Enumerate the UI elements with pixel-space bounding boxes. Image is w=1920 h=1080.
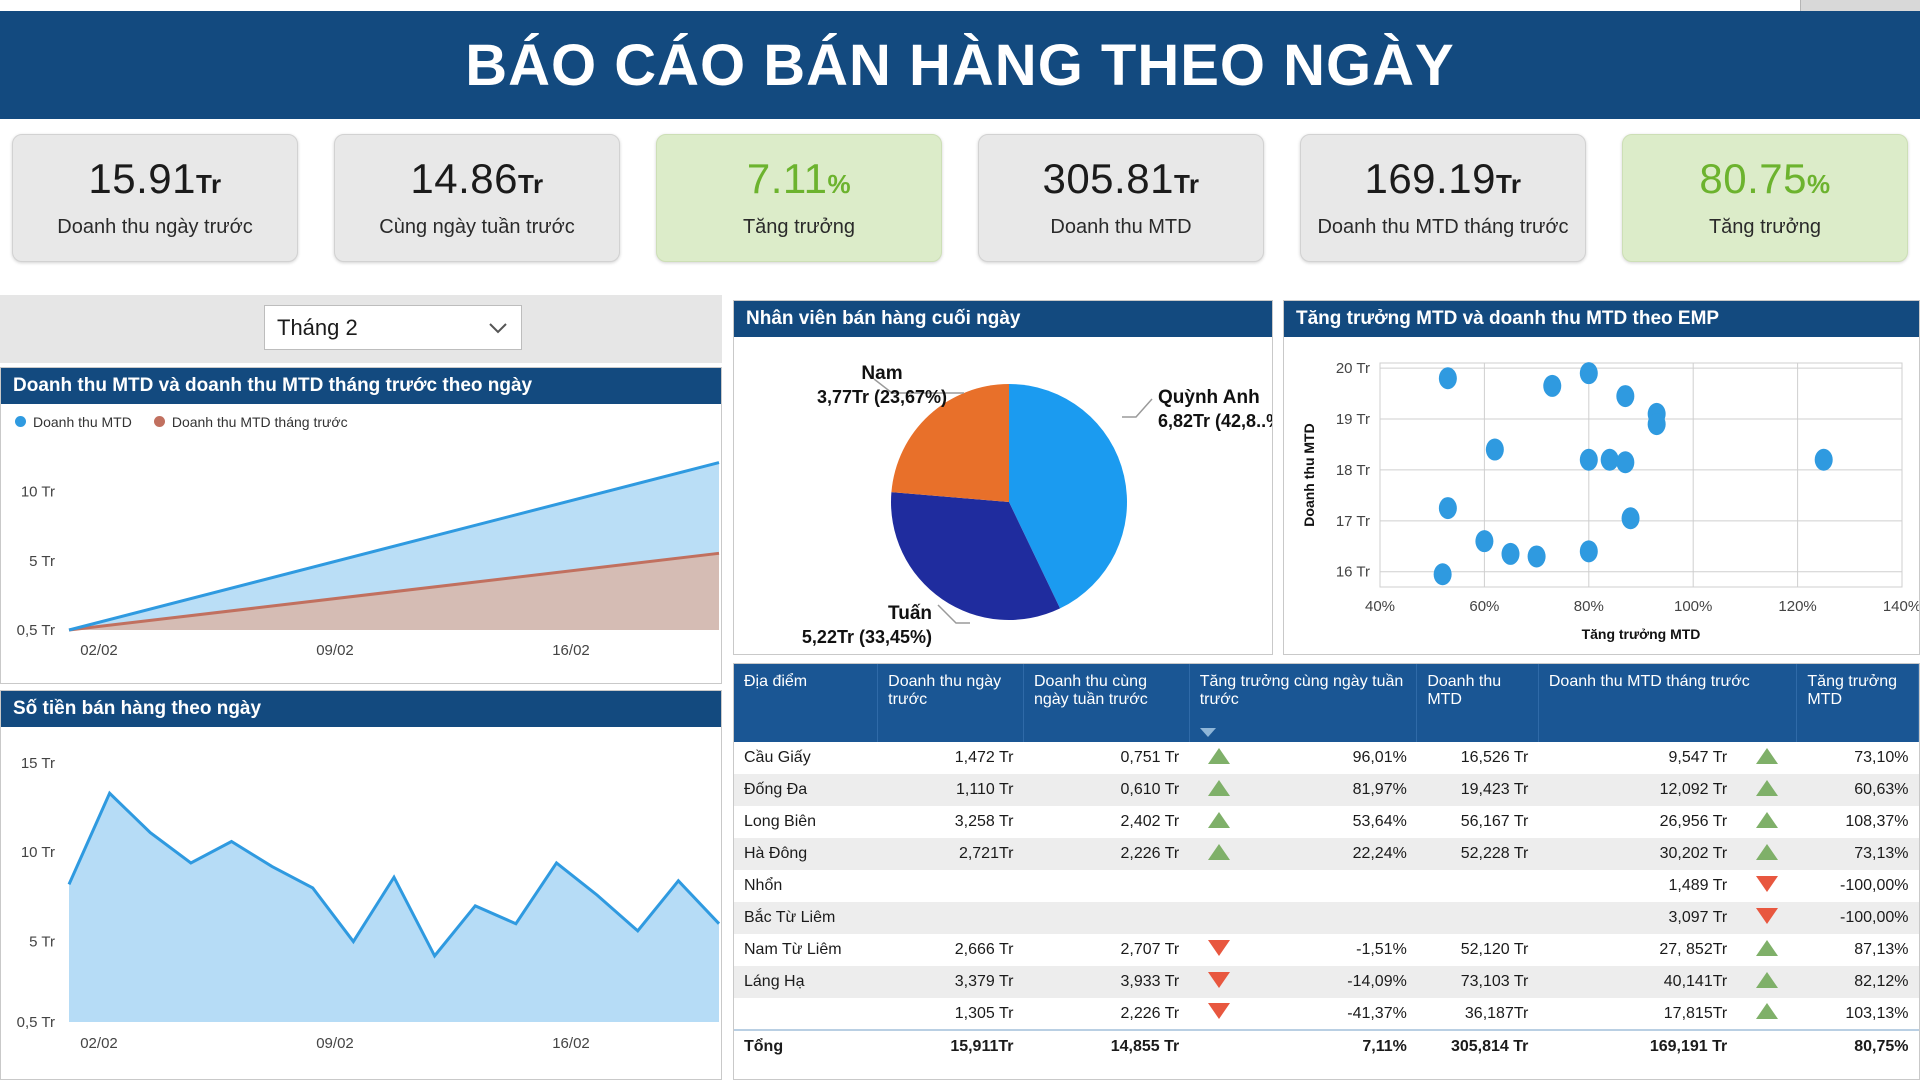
scatter-point[interactable]	[1616, 385, 1634, 407]
table-col-header[interactable]: Địa điểm	[734, 664, 878, 742]
chevron-down-icon[interactable]	[487, 315, 509, 341]
page-title: BÁO CÁO BÁN HÀNG THEO NGÀY	[465, 32, 1454, 99]
trend-up-icon	[1737, 774, 1797, 806]
kpi-label: Tăng trưởng	[743, 216, 855, 239]
kpi-card-2[interactable]: 14.86TrCùng ngày tuần trước	[334, 134, 620, 262]
scatter-point[interactable]	[1622, 507, 1640, 529]
table-cell-growth_mtd: 103,13%	[1797, 998, 1919, 1030]
svg-text:15 Tr: 15 Tr	[21, 755, 55, 772]
table-cell-rev_mtd: 73,103 Tr	[1417, 966, 1539, 998]
svg-text:19 Tr: 19 Tr	[1336, 411, 1370, 428]
kpi-value: 15.91Tr	[88, 158, 221, 200]
table-cell-growth_mtd: 73,13%	[1797, 838, 1919, 870]
svg-text:Tăng trưởng MTD: Tăng trưởng MTD	[1582, 626, 1701, 642]
table-cell-growth_wk	[1249, 902, 1417, 934]
daily-chart-plot[interactable]: 0,5 Tr5 Tr10 Tr15 Tr02/0209/0216/02	[1, 727, 721, 1079]
daily-chart-title: Số tiền bán hàng theo ngày	[1, 691, 721, 727]
salesperson-pie-panel[interactable]: Nhân viên bán hàng cuối ngày Quỳnh Anh6,…	[733, 300, 1273, 655]
kpi-card-1[interactable]: 15.91TrDoanh thu ngày trước	[12, 134, 298, 262]
table-cell-growth_wk: -41,37%	[1249, 998, 1417, 1030]
mtd-chart-plot[interactable]: 0,5 Tr5 Tr10 Tr02/0209/0216/02	[1, 430, 721, 675]
table-cell-rev_mtd: 19,423 Tr	[1417, 774, 1539, 806]
scatter-point[interactable]	[1439, 497, 1457, 519]
total-cell-rev_prev_day: 15,911Tr	[878, 1030, 1024, 1062]
table-header-row: Địa điểmDoanh thu ngày trướcDoanh thu cù…	[734, 664, 1919, 742]
svg-text:140%: 140%	[1883, 598, 1919, 615]
table-cell-loc: Long Biên	[734, 806, 878, 838]
dashboard-page: BÁO CÁO BÁN HÀNG THEO NGÀY 15.91TrDoanh …	[0, 0, 1920, 1080]
trend-down-icon	[1189, 934, 1249, 966]
total-cell-growth_wk: 7,11%	[1249, 1030, 1417, 1062]
table-cell-loc: Đống Đa	[734, 774, 878, 806]
pie-chart-plot[interactable]: Quỳnh Anh6,82Tr (42,8..%)Tuấn5,22Tr (33,…	[734, 337, 1272, 655]
trend-icon-empty	[1189, 902, 1249, 934]
table-row[interactable]: Hà Đông2,721Tr2,226 Tr22,24%52,228 Tr30,…	[734, 838, 1919, 870]
table-cell-growth_wk: 53,64%	[1249, 806, 1417, 838]
trend-up-icon	[1737, 966, 1797, 998]
scatter-point[interactable]	[1439, 367, 1457, 389]
table-cell-growth_mtd: 108,37%	[1797, 806, 1919, 838]
trend-down-icon	[1737, 902, 1797, 934]
table-cell-rev_prev_day: 3,258 Tr	[878, 806, 1024, 838]
table-cell-rev_mtd	[1417, 902, 1539, 934]
scatter-point[interactable]	[1580, 540, 1598, 562]
svg-text:16 Tr: 16 Tr	[1336, 564, 1370, 581]
table-cell-growth_mtd: -100,00%	[1797, 902, 1919, 934]
trend-down-icon	[1189, 966, 1249, 998]
svg-text:10 Tr: 10 Tr	[21, 483, 55, 500]
sort-descending-icon[interactable]	[1200, 728, 1216, 737]
svg-text:Nam: Nam	[861, 363, 902, 384]
table-cell-growth_wk: 81,97%	[1249, 774, 1417, 806]
legend-swatch-blue	[15, 416, 26, 427]
mtd-chart-title: Doanh thu MTD và doanh thu MTD tháng trư…	[1, 368, 721, 404]
table-total-row: Tổng15,911Tr14,855 Tr7,11%305,814 Tr169,…	[734, 1030, 1919, 1062]
table-cell-rev_prev_day: 2,666 Tr	[878, 934, 1024, 966]
table-cell-rev_prev_day: 1,472 Tr	[878, 742, 1024, 774]
svg-text:Quỳnh Anh: Quỳnh Anh	[1158, 387, 1260, 408]
kpi-label: Doanh thu ngày trước	[57, 216, 253, 239]
table-cell-rev_mtd_prev: 3,097 Tr	[1538, 902, 1737, 934]
report-title-bar: BÁO CÁO BÁN HÀNG THEO NGÀY	[0, 11, 1920, 119]
svg-text:09/02: 09/02	[316, 1035, 354, 1052]
total-cell-rev_mtd_prev: 169,191 Tr	[1538, 1030, 1737, 1062]
kpi-label: Cùng ngày tuần trước	[379, 216, 575, 239]
scatter-point[interactable]	[1580, 362, 1598, 384]
trend-up-icon	[1189, 806, 1249, 838]
svg-text:80%: 80%	[1574, 598, 1604, 615]
table-cell-loc: Nam Từ Liêm	[734, 934, 878, 966]
table-col-header[interactable]: Doanh thu cùng ngày tuần trước	[1023, 664, 1189, 742]
kpi-value: 169.19Tr	[1364, 158, 1521, 200]
kpi-card-3[interactable]: 7.11%Tăng trưởng	[656, 134, 942, 262]
mtd-revenue-chart-panel[interactable]: Doanh thu MTD và doanh thu MTD tháng trư…	[0, 367, 722, 684]
table-cell-rev_mtd_prev: 1,489 Tr	[1538, 870, 1737, 902]
trend-up-icon	[1737, 806, 1797, 838]
kpi-value: 305.81Tr	[1042, 158, 1199, 200]
table-cell-growth_wk: -1,51%	[1249, 934, 1417, 966]
svg-text:5 Tr: 5 Tr	[29, 553, 55, 570]
table-cell-loc: Cầu Giấy	[734, 742, 878, 774]
scatter-point[interactable]	[1486, 438, 1504, 460]
mtd-chart-legend: Doanh thu MTD Doanh thu MTD tháng trước	[1, 404, 721, 430]
scatter-point[interactable]	[1475, 530, 1493, 552]
table-cell-rev_same_day_lw: 2,226 Tr	[1023, 998, 1189, 1030]
table-cell-rev_same_day_lw: 2,402 Tr	[1023, 806, 1189, 838]
location-metrics-table[interactable]: Địa điểmDoanh thu ngày trướcDoanh thu cù…	[734, 664, 1919, 1062]
scatter-chart-title: Tăng trưởng MTD và doanh thu MTD theo EM…	[1284, 301, 1919, 337]
table-cell-growth_mtd: 82,12%	[1797, 966, 1919, 998]
pie-chart-title: Nhân viên bán hàng cuối ngày	[734, 301, 1272, 337]
kpi-label: Doanh thu MTD	[1050, 216, 1191, 239]
kpi-card-6[interactable]: 80.75%Tăng trưởng	[1622, 134, 1908, 262]
kpi-card-4[interactable]: 305.81TrDoanh thu MTD	[978, 134, 1264, 262]
kpi-value: 7.11%	[747, 158, 851, 200]
trend-down-icon	[1737, 870, 1797, 902]
total-cell-rev_same_day_lw: 14,855 Tr	[1023, 1030, 1189, 1062]
table-cell-rev_same_day_lw: 3,933 Tr	[1023, 966, 1189, 998]
svg-text:Doanh thu MTD: Doanh thu MTD	[1301, 423, 1317, 526]
table-cell-loc: Bắc Từ Liêm	[734, 902, 878, 934]
table-col-header[interactable]: Doanh thu MTD tháng trước	[1538, 664, 1797, 742]
table-cell-rev_prev_day: 1,110 Tr	[878, 774, 1024, 806]
table-cell-rev_prev_day: 3,379 Tr	[878, 966, 1024, 998]
trend-up-icon	[1737, 742, 1797, 774]
svg-text:Tuấn: Tuấn	[888, 603, 932, 624]
location-metrics-table-panel[interactable]: Địa điểmDoanh thu ngày trướcDoanh thu cù…	[733, 663, 1920, 1080]
trend-up-icon	[1737, 998, 1797, 1030]
svg-text:18 Tr: 18 Tr	[1336, 462, 1370, 479]
svg-text:20 Tr: 20 Tr	[1336, 360, 1370, 377]
total-cell-blank	[1189, 1030, 1249, 1062]
svg-text:16/02: 16/02	[552, 642, 590, 659]
table-cell-rev_same_day_lw	[1023, 902, 1189, 934]
trend-up-icon	[1189, 838, 1249, 870]
scatter-point[interactable]	[1580, 449, 1598, 471]
table-cell-rev_same_day_lw: 0,610 Tr	[1023, 774, 1189, 806]
table-cell-loc: Láng Hạ	[734, 966, 878, 998]
kpi-value: 80.75%	[1699, 158, 1830, 200]
table-cell-loc: Nhổn	[734, 870, 878, 902]
table-cell-rev_mtd_prev: 26,956 Tr	[1538, 806, 1737, 838]
scatter-point[interactable]	[1528, 545, 1546, 567]
table-cell-growth_wk: 22,24%	[1249, 838, 1417, 870]
growth-scatter-panel[interactable]: Tăng trưởng MTD và doanh thu MTD theo EM…	[1283, 300, 1920, 655]
svg-text:3,77Tr (23,67%): 3,77Tr (23,67%)	[817, 387, 947, 407]
table-cell-rev_prev_day: 1,305 Tr	[878, 998, 1024, 1030]
svg-text:0,5 Tr: 0,5 Tr	[17, 1014, 55, 1031]
table-col-header[interactable]: Tăng trưởng MTD	[1797, 664, 1919, 742]
table-row[interactable]: Nam Từ Liêm2,666 Tr2,707 Tr-1,51%52,120 …	[734, 934, 1919, 966]
month-slicer-value: Tháng 2	[277, 315, 358, 341]
legend-label-mtd: Doanh thu MTD	[33, 414, 132, 430]
svg-text:6,82Tr (42,8..%): 6,82Tr (42,8..%)	[1158, 411, 1272, 431]
scatter-point[interactable]	[1601, 449, 1619, 471]
table-cell-growth_wk: -14,09%	[1249, 966, 1417, 998]
table-row[interactable]: Đống Đa1,110 Tr0,610 Tr81,97%19,423 Tr12…	[734, 774, 1919, 806]
kpi-card-5[interactable]: 169.19TrDoanh thu MTD tháng trước	[1300, 134, 1586, 262]
table-row[interactable]: Cầu Giấy1,472 Tr0,751 Tr96,01%16,526 Tr9…	[734, 742, 1919, 774]
total-cell-blank	[1737, 1030, 1797, 1062]
svg-text:5,22Tr (33,45%): 5,22Tr (33,45%)	[802, 627, 932, 647]
svg-text:02/02: 02/02	[80, 642, 118, 659]
total-cell-rev_mtd: 305,814 Tr	[1417, 1030, 1539, 1062]
table-col-header[interactable]: Tăng trưởng cùng ngày tuần trước	[1189, 664, 1417, 742]
trend-up-icon	[1737, 838, 1797, 870]
scatter-point[interactable]	[1502, 543, 1520, 565]
scatter-point[interactable]	[1543, 375, 1561, 397]
svg-text:09/02: 09/02	[316, 642, 354, 659]
table-row[interactable]: Long Biên3,258 Tr2,402 Tr53,64%56,167 Tr…	[734, 806, 1919, 838]
table-cell-rev_mtd: 52,120 Tr	[1417, 934, 1539, 966]
table-cell-loc	[734, 998, 878, 1030]
table-cell-rev_mtd_prev: 30,202 Tr	[1538, 838, 1737, 870]
table-cell-rev_mtd_prev: 40,141Tr	[1538, 966, 1737, 998]
table-cell-rev_mtd: 16,526 Tr	[1417, 742, 1539, 774]
trend-up-icon	[1189, 774, 1249, 806]
table-cell-rev_prev_day	[878, 902, 1024, 934]
kpi-value: 14.86Tr	[410, 158, 543, 200]
trend-up-icon	[1737, 934, 1797, 966]
svg-text:16/02: 16/02	[552, 1035, 590, 1052]
table-cell-growth_mtd: 73,10%	[1797, 742, 1919, 774]
table-col-header[interactable]: Doanh thu ngày trước	[878, 664, 1024, 742]
table-row[interactable]: 1,305 Tr2,226 Tr-41,37%36,187Tr17,815Tr1…	[734, 998, 1919, 1030]
table-cell-rev_same_day_lw: 2,226 Tr	[1023, 838, 1189, 870]
svg-text:5 Tr: 5 Tr	[29, 933, 55, 950]
table-cell-rev_mtd: 36,187Tr	[1417, 998, 1539, 1030]
scatter-point[interactable]	[1815, 449, 1833, 471]
table-cell-rev_prev_day: 2,721Tr	[878, 838, 1024, 870]
kpi-label: Tăng trưởng	[1709, 216, 1821, 239]
scatter-point[interactable]	[1434, 563, 1452, 585]
table-cell-growth_wk: 96,01%	[1249, 742, 1417, 774]
table-row[interactable]: Láng Hạ3,379 Tr3,933 Tr-14,09%73,103 Tr4…	[734, 966, 1919, 998]
svg-text:17 Tr: 17 Tr	[1336, 513, 1370, 530]
scatter-point[interactable]	[1616, 451, 1634, 473]
slicer-band: Tháng 2	[0, 295, 722, 363]
legend-item-mtd-prev[interactable]: Doanh thu MTD tháng trước	[154, 414, 348, 430]
scatter-point[interactable]	[1648, 413, 1666, 435]
month-slicer-dropdown[interactable]: Tháng 2	[264, 305, 522, 350]
kpi-label: Doanh thu MTD tháng trước	[1317, 216, 1568, 239]
trend-up-icon	[1189, 742, 1249, 774]
total-cell-growth_mtd: 80,75%	[1797, 1030, 1919, 1062]
kpi-card-row: 15.91TrDoanh thu ngày trước14.86TrCùng n…	[0, 119, 1920, 289]
table-cell-rev_mtd: 52,228 Tr	[1417, 838, 1539, 870]
table-cell-rev_same_day_lw: 2,707 Tr	[1023, 934, 1189, 966]
svg-text:0,5 Tr: 0,5 Tr	[17, 622, 55, 639]
legend-swatch-brown	[154, 416, 165, 427]
table-cell-rev_prev_day	[878, 870, 1024, 902]
table-cell-rev_mtd_prev: 12,092 Tr	[1538, 774, 1737, 806]
table-cell-growth_wk	[1249, 870, 1417, 902]
svg-text:60%: 60%	[1469, 598, 1499, 615]
table-cell-rev_mtd_prev: 9,547 Tr	[1538, 742, 1737, 774]
table-cell-growth_mtd: 60,63%	[1797, 774, 1919, 806]
svg-text:100%: 100%	[1674, 598, 1712, 615]
table-cell-growth_mtd: 87,13%	[1797, 934, 1919, 966]
table-cell-rev_mtd_prev: 17,815Tr	[1538, 998, 1737, 1030]
scatter-chart-plot[interactable]: 16 Tr17 Tr18 Tr19 Tr20 Tr40%60%80%100%12…	[1284, 337, 1919, 655]
table-cell-rev_mtd_prev: 27, 852Tr	[1538, 934, 1737, 966]
svg-text:02/02: 02/02	[80, 1035, 118, 1052]
total-cell-loc: Tổng	[734, 1030, 878, 1062]
svg-text:10 Tr: 10 Tr	[21, 844, 55, 861]
table-cell-loc: Hà Đông	[734, 838, 878, 870]
table-cell-rev_mtd	[1417, 870, 1539, 902]
daily-sales-chart-panel[interactable]: Số tiền bán hàng theo ngày 0,5 Tr5 Tr10 …	[0, 690, 722, 1080]
table-cell-growth_mtd: -100,00%	[1797, 870, 1919, 902]
table-cell-rev_mtd: 56,167 Tr	[1417, 806, 1539, 838]
table-row[interactable]: Bắc Từ Liêm3,097 Tr-100,00%	[734, 902, 1919, 934]
table-cell-rev_same_day_lw	[1023, 870, 1189, 902]
table-cell-rev_same_day_lw: 0,751 Tr	[1023, 742, 1189, 774]
table-body[interactable]: Cầu Giấy1,472 Tr0,751 Tr96,01%16,526 Tr9…	[734, 742, 1919, 1062]
legend-item-mtd[interactable]: Doanh thu MTD	[15, 414, 132, 430]
legend-label-mtd-prev: Doanh thu MTD tháng trước	[172, 414, 348, 430]
svg-text:120%: 120%	[1778, 598, 1816, 615]
trend-down-icon	[1189, 998, 1249, 1030]
svg-text:40%: 40%	[1365, 598, 1395, 615]
table-row[interactable]: Nhổn1,489 Tr-100,00%	[734, 870, 1919, 902]
trend-icon-empty	[1189, 870, 1249, 902]
table-col-header[interactable]: Doanh thu MTD	[1417, 664, 1539, 742]
